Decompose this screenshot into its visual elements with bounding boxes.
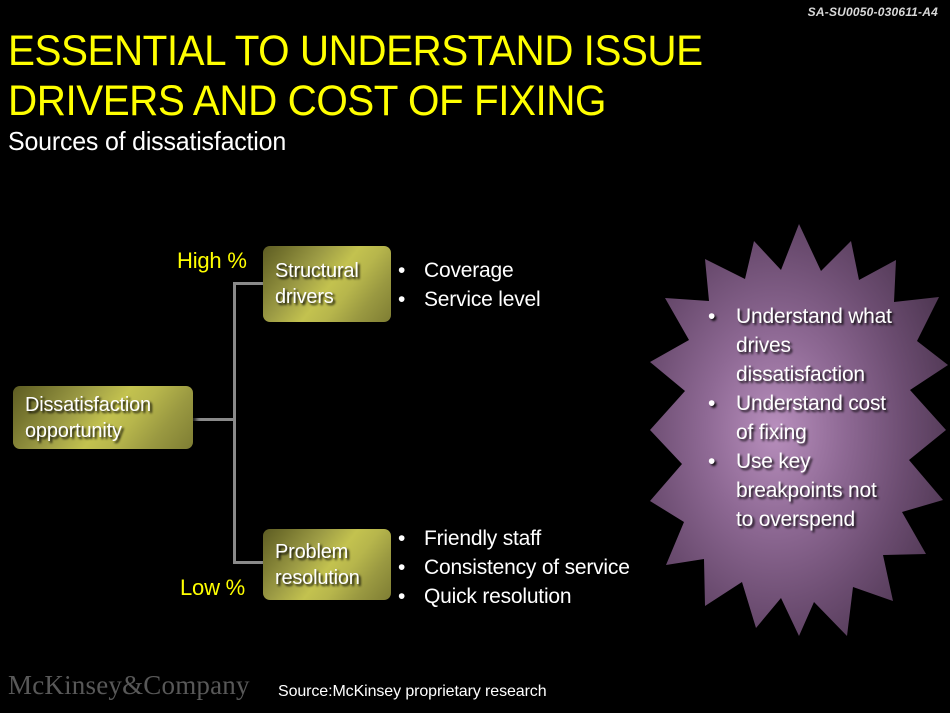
list-item-label: Consistency of service: [424, 553, 630, 582]
bullet-dot-icon: •: [398, 553, 424, 582]
starburst-bullet-list: • Understand what drives dissatisfaction…: [708, 302, 898, 534]
mckinsey-logo: McKinsey&Company: [8, 670, 250, 701]
page-subtitle: Sources of dissatisfaction: [8, 125, 286, 157]
list-item: • Understand cost of fixing: [708, 389, 898, 447]
list-item: • Friendly staff: [398, 524, 630, 553]
bullet-dot-icon: •: [398, 256, 424, 285]
page-title: ESSENTIAL TO UNDERSTAND ISSUE DRIVERS AN…: [8, 26, 760, 126]
bullet-dot-icon: •: [708, 302, 736, 331]
list-item-label: Understand cost of fixing: [736, 389, 898, 447]
connector-top-stub: [233, 282, 263, 285]
box-structural-drivers[interactable]: Structural drivers: [263, 246, 391, 322]
list-item: • Consistency of service: [398, 553, 630, 582]
source-note: Source:McKinsey proprietary research: [278, 683, 547, 701]
list-item: • Coverage: [398, 256, 540, 285]
connector-bottom-stub: [233, 561, 263, 564]
list-item: • Understand what drives dissatisfaction: [708, 302, 898, 389]
list-item: • Use key breakpoints not to overspend: [708, 447, 898, 534]
bullet-dot-icon: •: [708, 389, 736, 418]
box-label: Dissatisfaction opportunity: [13, 392, 193, 444]
bullet-list-structural-drivers: • Coverage • Service level: [398, 256, 540, 314]
slide-canvas: SA-SU0050-030611-A4 ESSENTIAL TO UNDERST…: [0, 0, 950, 713]
box-label: Problem resolution: [263, 539, 391, 591]
list-item-label: Coverage: [424, 256, 513, 285]
bullet-dot-icon: •: [398, 524, 424, 553]
box-label: Structural drivers: [263, 258, 391, 310]
list-item: • Quick resolution: [398, 582, 630, 611]
list-item: • Service level: [398, 285, 540, 314]
list-item-label: Understand what drives dissatisfaction: [736, 302, 898, 389]
label-low-percent: Low %: [180, 575, 245, 601]
label-high-percent: High %: [177, 248, 247, 274]
branch-connector: [193, 282, 263, 564]
bullet-dot-icon: •: [708, 447, 736, 476]
starburst-callout: • Understand what drives dissatisfaction…: [650, 224, 948, 636]
list-item-label: Quick resolution: [424, 582, 571, 611]
bullet-list-problem-resolution: • Friendly staff • Consistency of servic…: [398, 524, 630, 611]
box-problem-resolution[interactable]: Problem resolution: [263, 529, 391, 600]
box-dissatisfaction-opportunity[interactable]: Dissatisfaction opportunity: [13, 386, 193, 449]
connector-vertical-line: [233, 282, 236, 564]
document-reference-code: SA-SU0050-030611-A4: [808, 5, 938, 19]
connector-root-stub: [193, 418, 236, 421]
list-item-label: Service level: [424, 285, 540, 314]
bullet-dot-icon: •: [398, 582, 424, 611]
list-item-label: Friendly staff: [424, 524, 541, 553]
bullet-dot-icon: •: [398, 285, 424, 314]
list-item-label: Use key breakpoints not to overspend: [736, 447, 898, 534]
